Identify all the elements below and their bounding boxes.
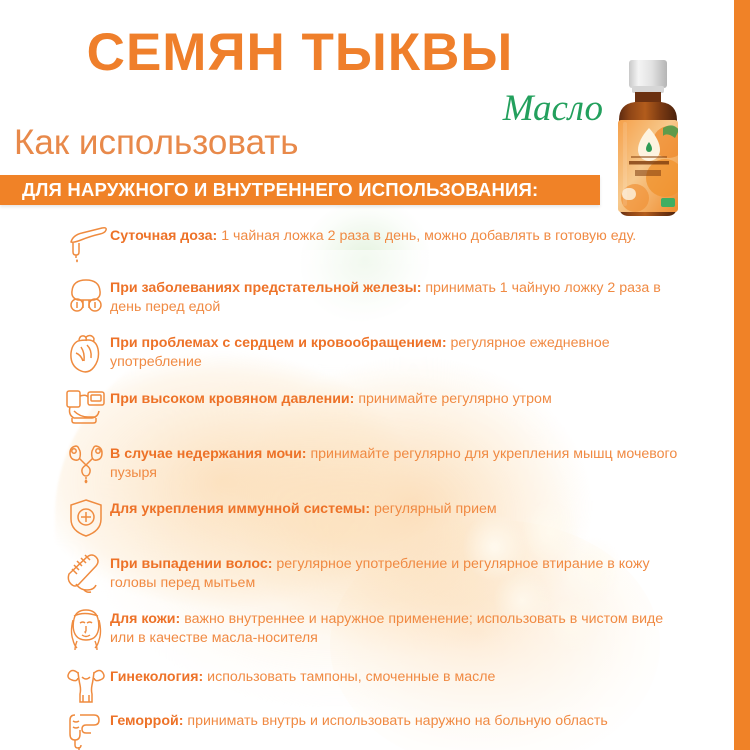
kidneys-bladder-icon — [62, 440, 110, 486]
list-item: В случае недержания мочи: принимайте рег… — [62, 440, 682, 486]
oil-word: Масло — [418, 90, 603, 127]
page-title: СЕМЯН ТЫКВЫ — [0, 26, 600, 79]
list-item-bold: При выпадении волос: — [110, 556, 272, 572]
list-item: Геморрой: принимать внутрь и использоват… — [62, 707, 682, 750]
list-item-rest: 1 чайная ложка 2 раза в день, можно доба… — [217, 228, 636, 244]
howto-heading: Как использовать — [14, 125, 299, 160]
usage-banner: ДЛЯ НАРУЖНОГО И ВНУТРЕННЕГО ИСПОЛЬЗОВАНИ… — [0, 175, 600, 205]
intestine-icon — [62, 707, 110, 750]
list-item-text: В случае недержания мочи: принимайте рег… — [110, 440, 682, 483]
list-item-bold: При высоком кровяном давлении: — [110, 391, 354, 407]
list-item-rest: принимайте регулярно утром — [354, 391, 551, 407]
list-item-bold: Для укрепления иммунной системы: — [110, 501, 370, 517]
list-item-text: Суточная доза: 1 чайная ложка 2 раза в д… — [110, 222, 636, 246]
list-item-bold: В случае недержания мочи: — [110, 446, 307, 462]
list-item: При выпадении волос: регулярное употребл… — [62, 550, 682, 596]
list-item-bold: Геморрой: — [110, 713, 183, 729]
heart-icon — [62, 329, 110, 375]
list-item-text: Для кожи: важно внутреннее и наружное пр… — [110, 605, 682, 648]
list-item-text: Для укрепления иммунной системы: регуляр… — [110, 495, 497, 519]
infographic-page: СЕМЯН ТЫКВЫ Масло Как использовать ДЛЯ Н… — [0, 0, 750, 750]
product-bottle-image — [605, 58, 691, 226]
list-item-rest: важно внутреннее и наружное применение; … — [110, 611, 663, 646]
list-item-text: Гинекология: использовать тампоны, смоче… — [110, 663, 495, 687]
shield-plus-icon — [62, 495, 110, 541]
prostate-icon — [62, 274, 110, 320]
list-item-bold: Гинекология: — [110, 669, 203, 685]
list-item: При проблемах с сердцем и кровообращение… — [62, 329, 682, 375]
list-item: Для кожи: важно внутреннее и наружное пр… — [62, 605, 682, 651]
list-item: Для укрепления иммунной системы: регуляр… — [62, 495, 682, 541]
list-item-text: При выпадении волос: регулярное употребл… — [110, 550, 682, 593]
list-item-bold: Для кожи: — [110, 611, 180, 627]
list-item-rest: принимать внутрь и использовать наружно … — [183, 713, 607, 729]
blood-pressure-monitor-icon — [62, 385, 110, 431]
list-item-text: При заболеваниях предстательной железы: … — [110, 274, 682, 317]
list-item-text: При высоком кровяном давлении: принимайт… — [110, 385, 552, 409]
list-item-bold: При проблемах с сердцем и кровообращение… — [110, 335, 447, 351]
list-item-rest: регулярный прием — [370, 501, 497, 517]
list-item-rest: использовать тампоны, смоченные в масле — [203, 669, 495, 685]
list-item-text: Геморрой: принимать внутрь и использоват… — [110, 707, 608, 731]
spoon-drip-icon — [62, 222, 110, 268]
woman-face-icon — [62, 605, 110, 651]
list-item-bold: Суточная доза: — [110, 228, 217, 244]
list-item-bold: При заболеваниях предстательной железы: — [110, 280, 421, 296]
list-item-text: При проблемах с сердцем и кровообращение… — [110, 329, 682, 372]
hair-comb-icon — [62, 550, 110, 596]
uterus-icon — [62, 663, 110, 709]
list-item: Суточная доза: 1 чайная ложка 2 раза в д… — [62, 222, 682, 268]
list-item: При высоком кровяном давлении: принимайт… — [62, 385, 682, 431]
list-item: При заболеваниях предстательной железы: … — [62, 274, 682, 320]
list-item: Гинекология: использовать тампоны, смоче… — [62, 663, 682, 709]
